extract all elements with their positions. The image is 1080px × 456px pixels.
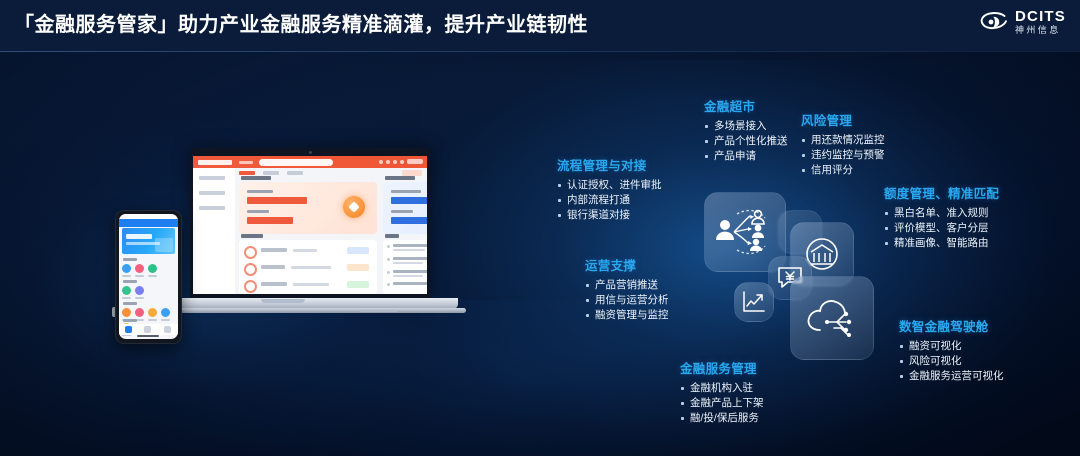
slide-canvas: 「金融服务管家」助力产业金融服务精准滴灌，提升产业链韧性 DCITS 神州信息 [0,0,1080,456]
todo-row-icon-1 [244,246,257,259]
panel-news-list [383,240,427,294]
phone-app-icon-3[interactable] [148,264,157,277]
coin-icon [343,196,365,218]
block-items: 金融机构入驻 金融产品上下架 融/投/保后服务 [680,381,764,426]
card-label-1 [247,190,273,193]
laptop-screen [190,148,430,298]
block-title: 流程管理与对接 [557,155,662,174]
card-financing-amount [239,182,377,234]
phone-mockup [115,210,182,344]
block-items: 融资可视化 风险可视化 金融服务运营可视化 [899,339,1004,384]
block-financial-service-management: 金融服务管理 金融机构入驻 金融产品上下架 融/投/保后服务 [680,358,764,426]
user-name-chip[interactable] [407,159,423,164]
phone-header [119,219,178,227]
news-bullet-1 [387,245,390,248]
phone-app-icon-8[interactable] [148,308,157,321]
sidebar-item-1[interactable] [199,176,225,180]
block-item: 金融服务运营可视化 [899,369,1004,384]
sidebar-item-2[interactable] [199,191,225,195]
news-date-2 [393,262,423,264]
card-cloud-tech [790,276,874,360]
center-graphic [690,180,890,370]
block-item: 评价模型、客户分层 [884,221,999,236]
todo-row-title-2 [261,265,285,269]
card-value-1 [247,197,307,204]
block-financial-supermarket: 金融超市 多场景接入 产品个性化推送 产品申请 [704,96,788,164]
page-title: 「金融服务管家」助力产业金融服务精准滴灌，提升产业链韧性 [14,8,588,37]
news-title-3[interactable] [393,270,427,273]
block-item: 金融产品上下架 [680,396,764,411]
device-mockup [112,140,454,352]
news-title-4[interactable] [393,282,427,285]
block-risk-management: 风险管理 用还款情况监控 违约监控与预警 信用评分 [801,110,885,178]
todo-row-desc-2 [291,266,331,269]
block-quota-matching: 额度管理、精准匹配 黑白名单、准入规则 评价模型、客户分层 精准画像、智能路由 [884,183,999,251]
phone-section-title-4 [123,319,137,322]
avatar[interactable] [400,160,404,164]
phone-app-icon-4[interactable] [122,286,131,299]
dashboard-sidebar [193,168,235,294]
laptop-trackpad [360,310,398,312]
todo-row-button-3[interactable] [347,281,369,288]
phone-section-title-1 [123,258,137,261]
card-value-2 [247,217,293,224]
block-item: 产品申请 [704,149,788,164]
todo-row-icon-3 [244,280,257,293]
logo-cn: 神州信息 [1015,26,1066,35]
dashboard-brand [198,160,232,165]
tab-3[interactable] [287,171,303,175]
block-item: 产品个性化推送 [704,134,788,149]
phone-icon-row-2 [122,286,144,299]
block-title: 金融服务管理 [680,358,764,377]
phone-section-title-2 [123,280,137,283]
laptop-dashboard-ui [193,156,427,294]
phone-nav-home-icon[interactable] [125,326,132,333]
block-item: 认证授权、进件审批 [557,178,662,193]
news-bullet-3 [387,271,390,274]
block-items: 多场景接入 产品个性化推送 产品申请 [704,119,788,164]
phone-app-icon-5[interactable] [135,286,144,299]
card-value-3 [391,197,427,204]
logo-en: DCITS [1015,9,1066,24]
phone-app-icon-9[interactable] [161,308,170,321]
block-item: 融/投/保后服务 [680,411,764,426]
phone-banner-subtitle [126,242,160,245]
phone-home-indicator [137,335,159,337]
phone-banner [122,228,175,254]
tab-1[interactable] [239,171,255,175]
block-item: 用信与运营分析 [585,293,669,308]
phone-banner-title [126,234,152,239]
todo-row-button-2[interactable] [347,264,369,271]
dashboard-topbar [193,156,427,168]
dashboard-search-input[interactable] [259,159,333,166]
news-date-3 [393,275,423,277]
block-item: 产品营销推送 [585,278,669,293]
todo-row-icon-2 [244,263,257,276]
block-item: 多场景接入 [704,119,788,134]
todo-row-title-3 [261,282,287,286]
dashboard-tabs [239,171,303,175]
block-item: 黑白名单、准入规则 [884,206,999,221]
card-growth-chart [734,282,774,322]
block-title: 风险管理 [801,110,885,129]
growth-chart-icon [741,290,767,314]
card-label-2 [247,210,269,213]
news-bullet-2 [387,258,390,261]
news-title-2[interactable] [393,257,427,260]
todo-row-desc-1 [293,249,317,252]
laptop-notch [261,299,305,303]
phone-app-ui [119,214,178,339]
help-icon[interactable] [386,160,390,164]
block-title: 额度管理、精准匹配 [884,183,999,202]
phone-section-title-3 [123,302,137,305]
brand-logo: DCITS 神州信息 [979,9,1066,35]
phone-nav-profile-icon[interactable] [164,326,171,333]
card-credit-amount [383,182,427,234]
block-item: 融资管理与监控 [585,308,669,323]
panel-news-title [385,234,399,238]
block-items: 产品营销推送 用信与运营分析 融资管理与监控 [585,278,669,323]
block-item: 违约监控与预警 [801,148,885,163]
cloud-tech-icon [804,294,860,342]
block-items: 黑白名单、准入规则 评价模型、客户分层 精准画像、智能路由 [884,206,999,251]
block-item: 融资可视化 [899,339,1004,354]
laptop-camera-icon [309,151,312,154]
block-item: 风险可视化 [899,354,1004,369]
dashboard-topbar-actions [379,159,423,164]
card-credit-title [385,176,415,180]
dashboard-menu [239,161,253,164]
block-title: 运营支撑 [585,255,669,274]
tab-2[interactable] [263,171,279,175]
block-items: 认证授权、进件审批 内部流程打通 银行渠道对接 [557,178,662,223]
todo-row-button-1[interactable] [347,247,369,254]
card-label-3 [391,190,421,193]
header-divider [0,51,1080,52]
card-label-4 [391,210,413,213]
phone-bottom-nav [119,324,178,335]
block-item: 用还款情况监控 [801,133,885,148]
notification-icon[interactable] [379,160,383,164]
block-items: 用还款情况监控 违约监控与预警 信用评分 [801,133,885,178]
phone-app-icon-1[interactable] [122,264,131,277]
todo-row-title-1 [261,248,287,252]
card-value-4 [391,217,427,224]
block-process-management: 流程管理与对接 认证授权、进件审批 内部流程打通 银行渠道对接 [557,155,662,223]
block-item: 信用评分 [801,163,885,178]
settings-icon[interactable] [393,160,397,164]
phone-nav-service-icon[interactable] [144,326,151,333]
block-title: 金融超市 [704,96,788,115]
block-title: 数智金融驾驶舱 [899,316,1004,335]
block-digital-cockpit: 数智金融驾驶舱 融资可视化 风险可视化 金融服务运营可视化 [899,316,1004,384]
block-item: 内部流程打通 [557,193,662,208]
block-item: 银行渠道对接 [557,208,662,223]
block-item: 精准画像、智能路由 [884,236,999,251]
phone-app-icon-2[interactable] [135,264,144,277]
panel-todo-list [239,240,377,294]
dcits-swirl-icon [979,10,1009,34]
news-date-1 [393,249,425,251]
block-item: 金融机构入驻 [680,381,764,396]
todo-row-desc-3 [293,283,329,286]
sidebar-item-3[interactable] [199,206,225,210]
block-operation-support: 运营支撑 产品营销推送 用信与运营分析 融资管理与监控 [585,255,669,323]
news-bullet-4 [387,283,390,286]
panel-todo-title [241,234,263,238]
card-financing-title [241,176,271,180]
logo-text: DCITS 神州信息 [1015,9,1066,35]
phone-icon-row-1 [122,264,157,277]
news-title-1[interactable] [393,244,427,247]
people-network-icon [714,206,776,258]
